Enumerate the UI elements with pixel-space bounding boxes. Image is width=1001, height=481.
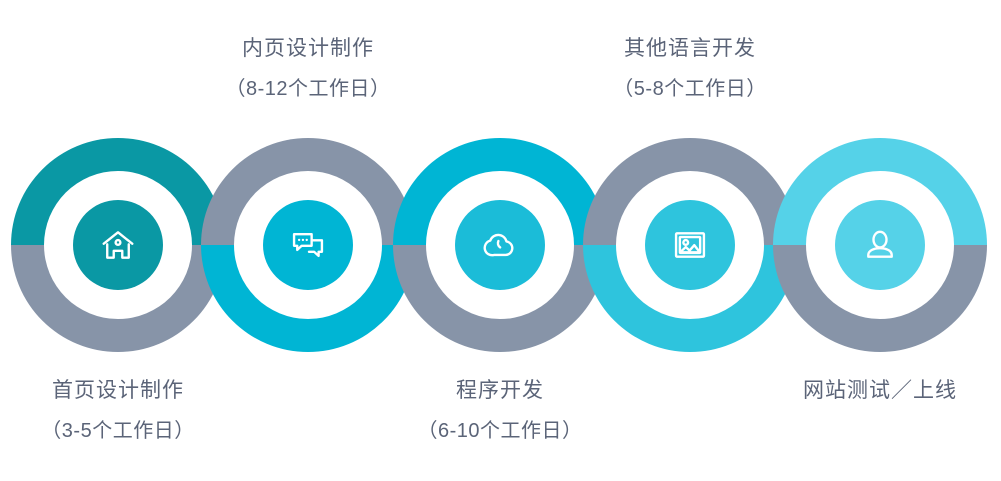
step-core-1[interactable] <box>73 200 163 290</box>
infographic-canvas: 首页设计制作 （3-5个工作日） 内页设计制作 （8-12个工作日） 程序开发 … <box>0 0 1001 481</box>
cloud-icon <box>481 226 519 264</box>
step-ring-2[interactable] <box>201 138 415 352</box>
step-label-4: 其他语言开发 （5-8个工作日） <box>590 38 790 99</box>
step-core-4[interactable] <box>645 200 735 290</box>
step-title-5: 网站测试／上线 <box>780 380 980 401</box>
step-ring-4[interactable] <box>583 138 797 352</box>
home-icon <box>99 226 137 264</box>
step-title-3: 程序开发 <box>400 380 600 401</box>
step-label-1: 首页设计制作 （3-5个工作日） <box>18 380 218 441</box>
step-core-5[interactable] <box>835 200 925 290</box>
user-icon <box>861 226 899 264</box>
step-duration-3: （6-10个工作日） <box>400 421 600 441</box>
step-ring-1[interactable] <box>11 138 225 352</box>
step-title-4: 其他语言开发 <box>590 38 790 59</box>
step-duration-4: （5-8个工作日） <box>590 79 790 99</box>
step-core-3[interactable] <box>455 200 545 290</box>
step-ring-3[interactable] <box>393 138 607 352</box>
image-icon <box>671 226 709 264</box>
step-label-5: 网站测试／上线 <box>780 380 980 401</box>
step-label-3: 程序开发 （6-10个工作日） <box>400 380 600 441</box>
step-ring-5[interactable] <box>773 138 987 352</box>
step-title-2: 内页设计制作 <box>208 38 408 59</box>
step-title-1: 首页设计制作 <box>18 380 218 401</box>
step-duration-1: （3-5个工作日） <box>18 421 218 441</box>
step-label-2: 内页设计制作 （8-12个工作日） <box>208 38 408 99</box>
step-duration-2: （8-12个工作日） <box>208 79 408 99</box>
chat-icon <box>289 226 327 264</box>
step-core-2[interactable] <box>263 200 353 290</box>
